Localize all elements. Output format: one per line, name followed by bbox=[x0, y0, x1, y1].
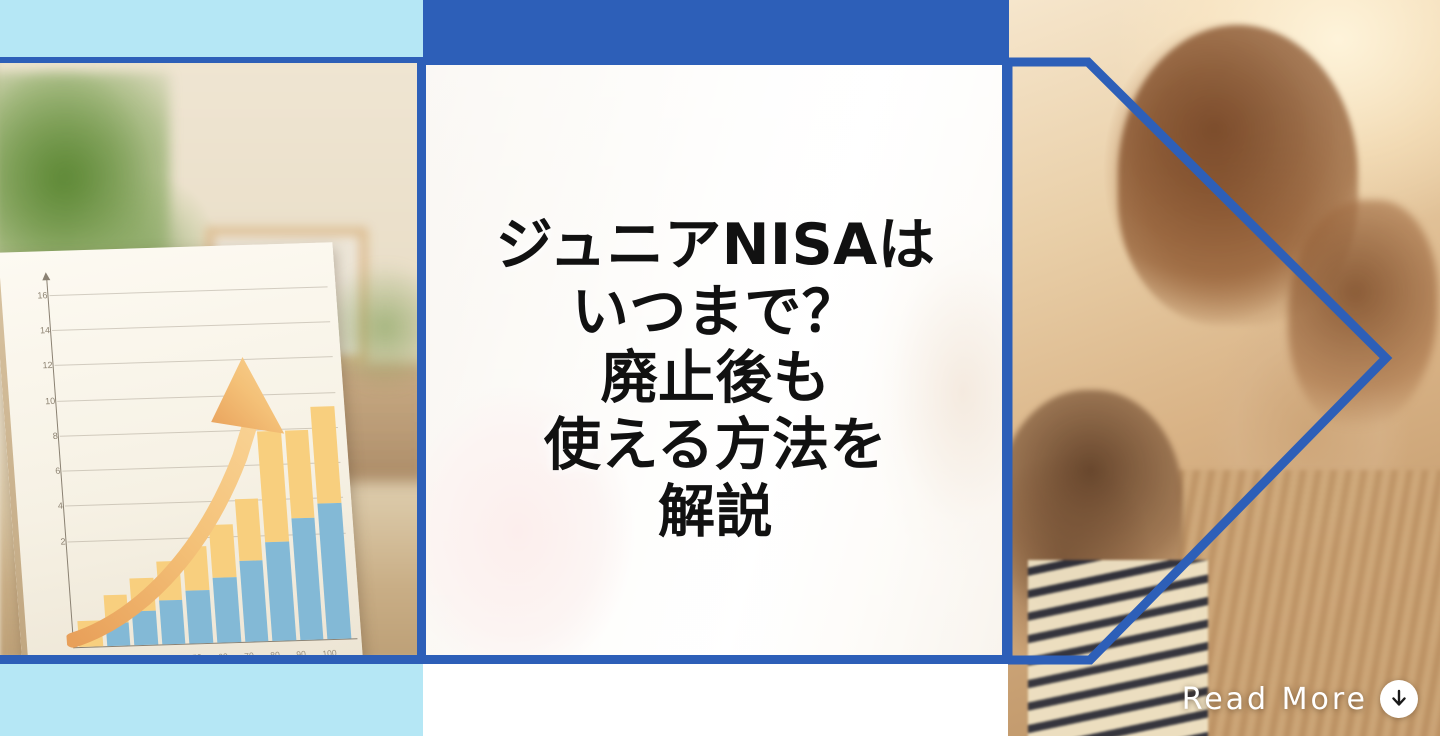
chart-bar-segment-yellow bbox=[257, 431, 289, 543]
arrow-down-circle-icon[interactable] bbox=[1380, 680, 1418, 718]
chart-y-tick-labels: 246810121416 bbox=[28, 266, 326, 275]
bottom-white-band bbox=[423, 664, 1008, 736]
chart-bar-segment-yellow bbox=[77, 620, 103, 647]
bottom-blue-rule-left bbox=[0, 655, 423, 664]
chart-gridline bbox=[52, 321, 330, 331]
title-line-5: 解説 bbox=[423, 479, 1008, 546]
read-more-label: Read More bbox=[1182, 682, 1368, 717]
chart-gridlines bbox=[28, 266, 326, 275]
title-line-4: 使える方法を bbox=[423, 412, 1008, 479]
chart-bar bbox=[130, 578, 159, 646]
chart-bar-segment-blue bbox=[239, 560, 269, 642]
title-line-2: いつまで？ bbox=[423, 279, 1008, 346]
chart-bar-segment-yellow bbox=[130, 578, 156, 612]
chart-board: 246810121416 102030405060708090100 bbox=[0, 242, 364, 658]
chart-bar-segment-yellow bbox=[234, 499, 262, 561]
chart-bars bbox=[57, 339, 351, 647]
bottom-cyan-band bbox=[0, 664, 423, 736]
plant-decor-secondary bbox=[330, 252, 423, 402]
top-cyan-band bbox=[0, 0, 423, 57]
chart-y-tick: 2 bbox=[60, 536, 66, 546]
title-line-3: 廃止後も bbox=[423, 345, 1008, 412]
chart-gridline bbox=[49, 286, 327, 296]
chart-bar-segment-blue bbox=[186, 590, 213, 644]
chart-bar-segment-yellow bbox=[285, 430, 315, 519]
center-title-panel: ジュニアNISAは いつまで？ 廃止後も 使える方法を 解説 bbox=[423, 62, 1008, 658]
chart-bar bbox=[156, 561, 186, 644]
chart-bar-segment-blue bbox=[105, 623, 130, 647]
chart-bar-segment-blue bbox=[132, 611, 158, 645]
chart-bar-segment-blue bbox=[213, 577, 241, 643]
top-blue-rule bbox=[0, 57, 423, 63]
chart-bar bbox=[209, 524, 241, 643]
chart-y-axis-arrow bbox=[42, 272, 51, 280]
chart-y-tick: 12 bbox=[42, 360, 53, 370]
chart-bar bbox=[77, 620, 103, 647]
title-line-1: ジュニアNISAは bbox=[423, 212, 1008, 279]
chart-y-tick: 8 bbox=[52, 431, 58, 441]
chart-y-tick: 14 bbox=[40, 325, 51, 335]
chart-y-tick: 16 bbox=[37, 290, 48, 300]
eyecatch-banner: 246810121416 102030405060708090100 bbox=[0, 0, 1440, 736]
chart-bar bbox=[183, 546, 214, 644]
chevron-overlay-icon bbox=[1008, 0, 1440, 736]
chart-bar-segment-blue bbox=[265, 542, 296, 641]
chart-bar-segment-blue bbox=[318, 503, 352, 639]
bottom-blue-rule-center bbox=[423, 655, 1008, 664]
chart-bar-segment-yellow bbox=[311, 406, 342, 504]
right-vertical-rule bbox=[1002, 0, 1009, 664]
left-photo-panel: 246810121416 102030405060708090100 bbox=[0, 62, 423, 658]
chart-y-tick: 10 bbox=[45, 395, 56, 405]
chart-bar bbox=[103, 594, 130, 646]
read-more-button[interactable]: Read More bbox=[1182, 680, 1418, 718]
top-blue-band bbox=[423, 0, 1008, 62]
chart-bar-segment-yellow bbox=[183, 546, 210, 591]
chart-bar-segment-blue bbox=[159, 600, 186, 645]
chart-bar-segment-yellow bbox=[103, 594, 129, 623]
page-title: ジュニアNISAは いつまで？ 廃止後も 使える方法を 解説 bbox=[423, 212, 1008, 545]
chart-y-tick: 6 bbox=[55, 466, 61, 476]
bar-chart: 246810121416 102030405060708090100 bbox=[28, 266, 355, 658]
chart-bar-segment-blue bbox=[291, 518, 324, 640]
chart-bar-segment-yellow bbox=[156, 561, 182, 600]
left-vertical-rule bbox=[417, 57, 424, 664]
chart-bar-segment-yellow bbox=[209, 524, 236, 578]
chart-x-tick-labels: 102030405060708090100 bbox=[28, 266, 326, 275]
right-photo-panel bbox=[1008, 0, 1440, 736]
chart-y-tick: 4 bbox=[58, 501, 64, 511]
